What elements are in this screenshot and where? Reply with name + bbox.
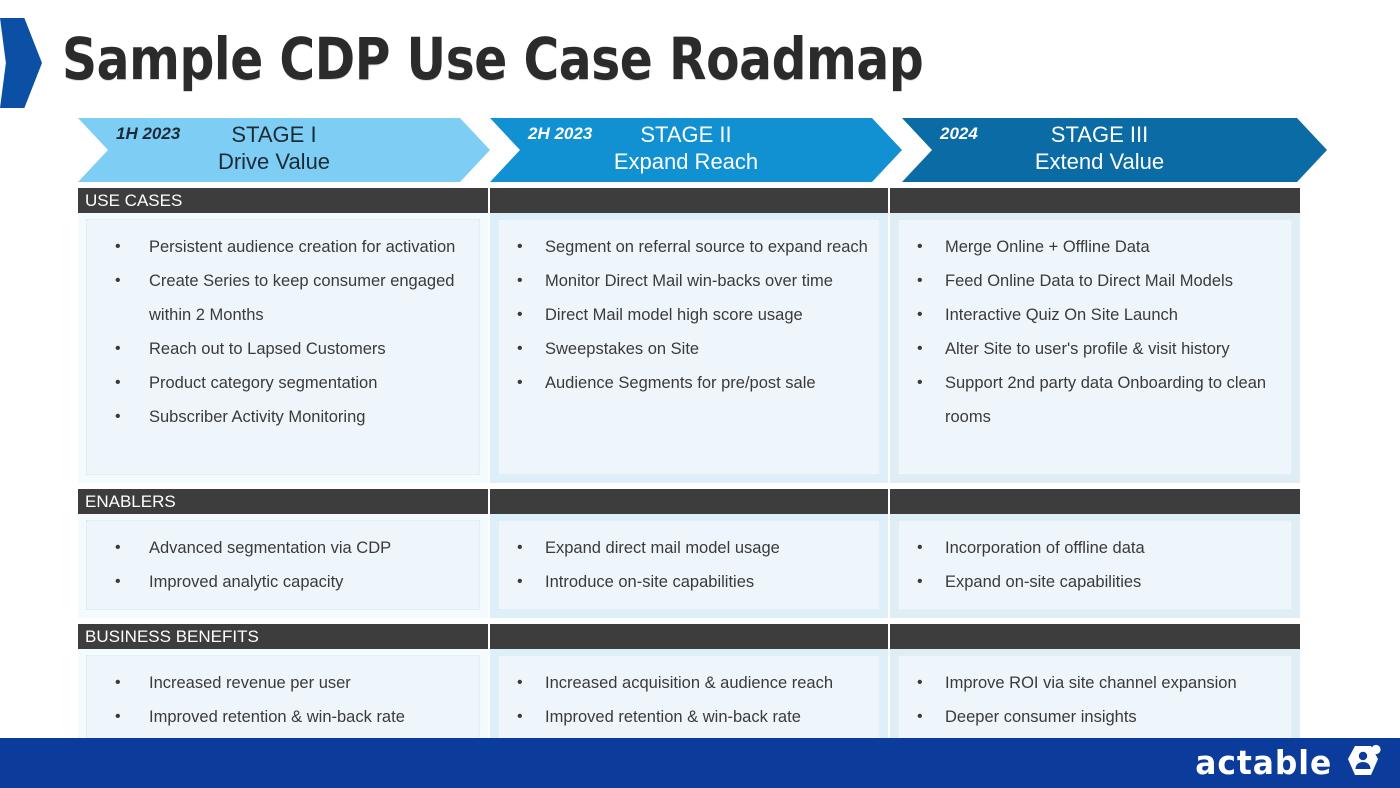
list-item: Interactive Quiz On Site Launch [905,298,1285,332]
section-label: USE CASES [85,190,182,211]
bullet-list: Persistent audience creation for activat… [93,230,473,434]
stage-subtitle-3: Extend Value [922,148,1277,176]
stage-chevron-3[interactable]: 2024 STAGE III Extend Value [902,118,1327,182]
stage-name-1: STAGE I [98,121,450,149]
list-item: Support 2nd party data Onboarding to cle… [905,366,1285,434]
stage-chevron-2[interactable]: 2H 2023 STAGE II Expand Reach [490,118,902,182]
bullet-list: Increased revenue per user Improved rete… [93,666,473,734]
card: Improve ROI via site channel expansion D… [898,655,1292,745]
page-title: Sample CDP Use Case Roadmap [62,24,923,94]
list-item: Product category segmentation [93,366,473,400]
list-item: Persistent audience creation for activat… [93,230,473,264]
bullet-list: Segment on referral source to expand rea… [505,230,873,400]
list-item: Improved retention & win-back rate [93,700,473,734]
card: Expand direct mail model usage Introduce… [498,520,880,610]
list-item: Segment on referral source to expand rea… [505,230,873,264]
list-item: Direct Mail model high score usage [505,298,873,332]
list-item: Introduce on-site capabilities [505,565,873,599]
list-item: Improve ROI via site channel expansion [905,666,1285,700]
bullet-list: Increased acquisition & audience reach I… [505,666,873,734]
card: Merge Online + Offline Data Feed Online … [898,219,1292,475]
list-item: Create Series to keep consumer engaged w… [93,264,473,332]
list-item: Expand on-site capabilities [905,565,1285,599]
list-item: Alter Site to user's profile & visit his… [905,332,1285,366]
stage-chevron-1[interactable]: 1H 2023 STAGE I Drive Value [78,118,490,182]
stage-subtitle-1: Drive Value [98,148,450,176]
card: Incorporation of offline data Expand on-… [898,520,1292,610]
section-band-business-benefits-col3 [890,624,1300,649]
list-item: Increased acquisition & audience reach [505,666,873,700]
section-band-business-benefits: BUSINESS BENEFITS [78,624,488,649]
list-item: Expand direct mail model usage [505,531,873,565]
actable-logo-icon [1342,742,1382,782]
card: Increased revenue per user Improved rete… [86,655,480,745]
section-band-use-cases-col3 [890,188,1300,213]
bullet-list: Incorporation of offline data Expand on-… [905,531,1285,599]
section-band-enablers-col3 [890,489,1300,514]
list-item: Subscriber Activity Monitoring [93,400,473,434]
section-cards-row: Persistent audience creation for activat… [78,213,1300,483]
cell-enablers-stage2: Expand direct mail model usage Introduce… [490,514,888,618]
bullet-list: Improve ROI via site channel expansion D… [905,666,1285,734]
section-band-enablers: ENABLERS [78,489,488,514]
section-use-cases: USE CASES Persistent audience creation f… [78,188,1300,483]
cell-enablers-stage1: Advanced segmentation via CDP Improved a… [78,514,488,618]
list-item: Monitor Direct Mail win-backs over time [505,264,873,298]
section-enablers: ENABLERS Advanced segmentation via CDP I… [78,489,1300,618]
list-item: Improved analytic capacity [93,565,473,599]
section-band-row: ENABLERS [78,489,1300,514]
list-item: Feed Online Data to Direct Mail Models [905,264,1285,298]
list-item: Audience Segments for pre/post sale [505,366,873,400]
card: Advanced segmentation via CDP Improved a… [86,520,480,610]
section-band-use-cases-col2 [490,188,888,213]
roadmap-board: USE CASES Persistent audience creation f… [78,188,1300,753]
cell-use-cases-stage2: Segment on referral source to expand rea… [490,213,888,483]
list-item: Increased revenue per user [93,666,473,700]
cell-use-cases-stage1: Persistent audience creation for activat… [78,213,488,483]
list-item: Sweepstakes on Site [505,332,873,366]
stage-name-2: STAGE II [510,121,862,149]
section-band-business-benefits-col2 [490,624,888,649]
stage-name-3: STAGE III [922,121,1277,149]
section-business-benefits: BUSINESS BENEFITS Increased revenue per … [78,624,1300,753]
left-accent-arrow-icon [0,18,42,108]
brand-lockup: actable [1188,742,1382,782]
card: Increased acquisition & audience reach I… [498,655,880,745]
list-item: Advanced segmentation via CDP [93,531,473,565]
stage-header-row: 1H 2023 STAGE I Drive Value 2H 2023 STAG… [78,118,1327,182]
list-item: Reach out to Lapsed Customers [93,332,473,366]
list-item: Merge Online + Offline Data [905,230,1285,264]
list-item: Deeper consumer insights [905,700,1285,734]
footer-bar: actable [0,738,1400,788]
section-band-row: USE CASES [78,188,1300,213]
list-item: Incorporation of offline data [905,531,1285,565]
stage-subtitle-2: Expand Reach [510,148,862,176]
section-band-enablers-col2 [490,489,888,514]
card: Persistent audience creation for activat… [86,219,480,475]
section-cards-row: Advanced segmentation via CDP Improved a… [78,514,1300,618]
section-band-row: BUSINESS BENEFITS [78,624,1300,649]
cell-enablers-stage3: Incorporation of offline data Expand on-… [890,514,1300,618]
brand-name: actable [1195,743,1332,782]
section-label: ENABLERS [85,491,176,512]
bullet-list: Merge Online + Offline Data Feed Online … [905,230,1285,434]
list-item: Improved retention & win-back rate [505,700,873,734]
cell-use-cases-stage3: Merge Online + Offline Data Feed Online … [890,213,1300,483]
bullet-list: Expand direct mail model usage Introduce… [505,531,873,599]
card: Segment on referral source to expand rea… [498,219,880,475]
section-band-use-cases: USE CASES [78,188,488,213]
section-label: BUSINESS BENEFITS [85,626,259,647]
bullet-list: Advanced segmentation via CDP Improved a… [93,531,473,599]
